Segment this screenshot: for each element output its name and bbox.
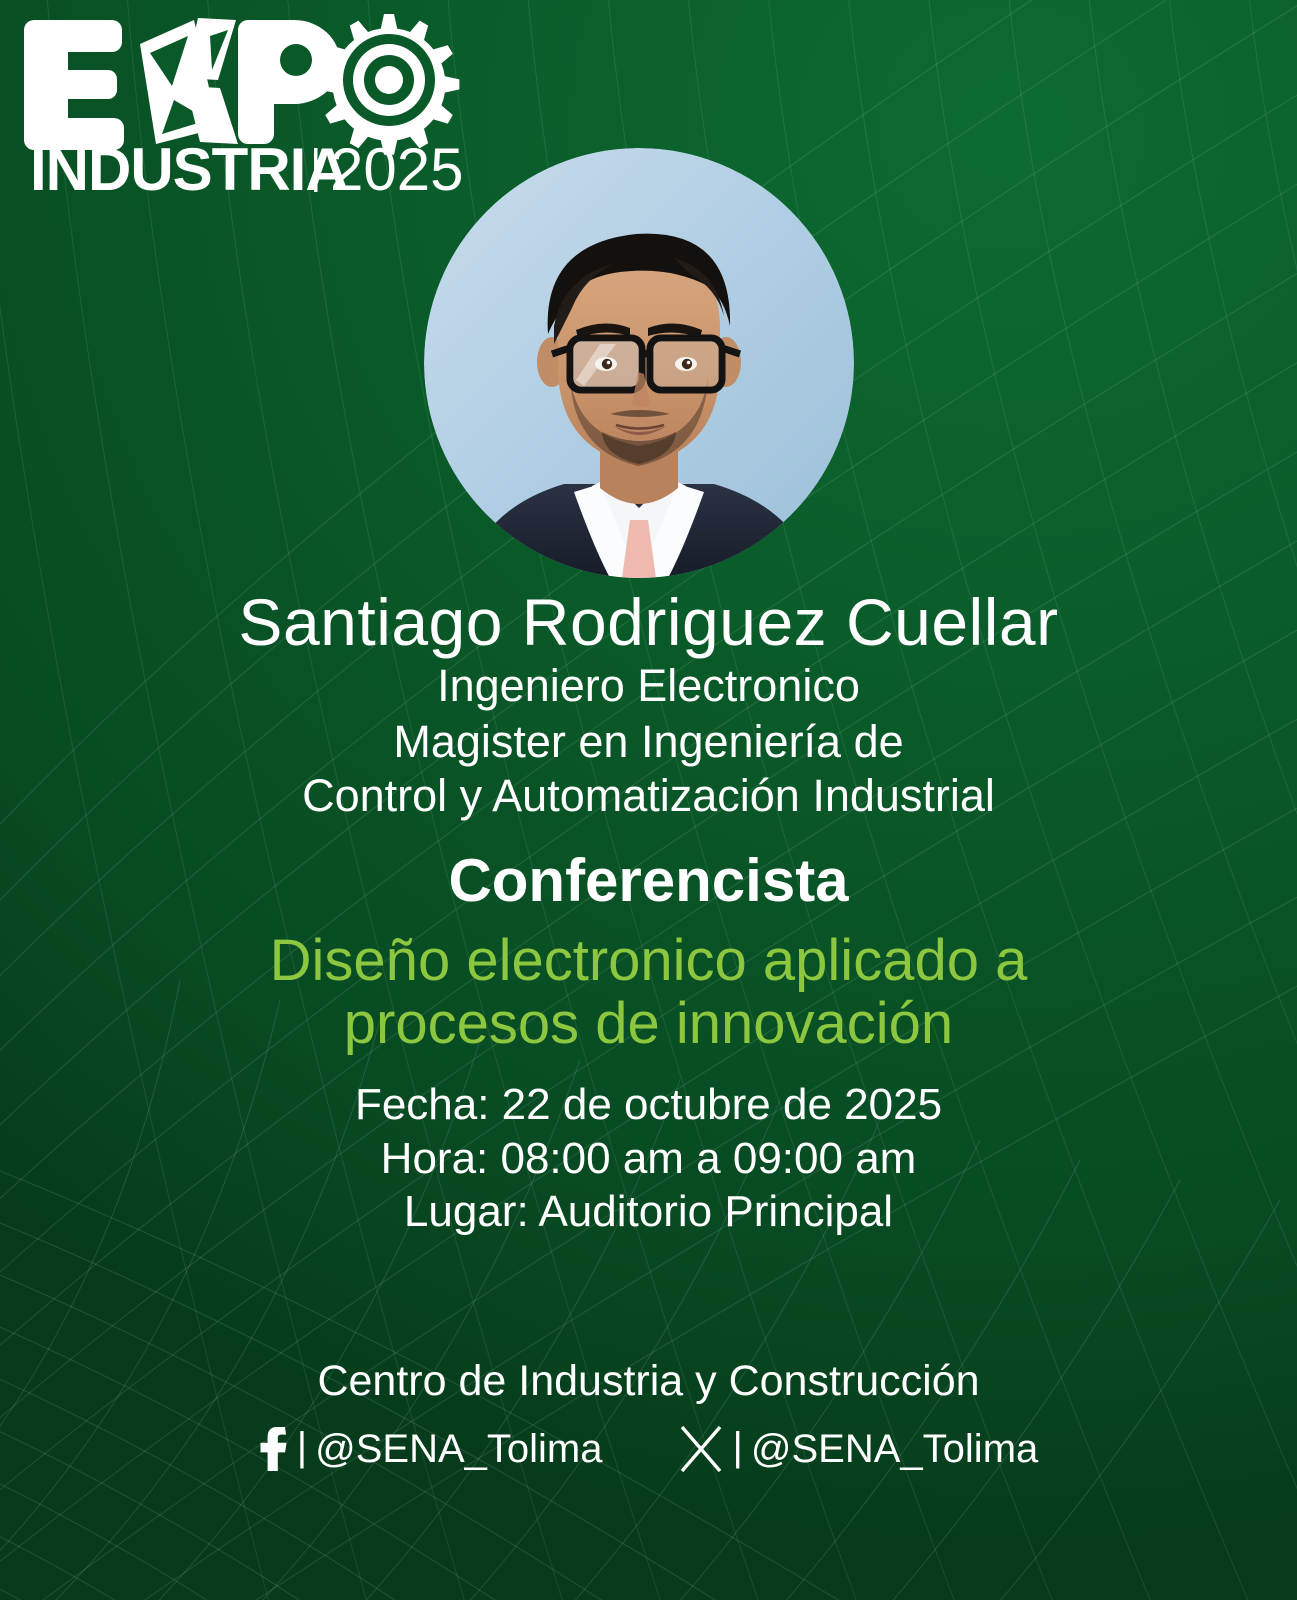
talk-title-line-1: Diseño electronico aplicado a [120,929,1177,993]
speaker-name: Santiago Rodriguez Cuellar [40,588,1257,658]
gear-icon [319,14,460,155]
event-poster: INDUSTRIA 2025 [0,0,1297,1600]
facebook-handle: @SENA_Tolima [315,1429,602,1469]
event-details: Fecha: 22 de octubre de 2025 Hora: 08:00… [40,1078,1257,1239]
speaker-credential-3: Control y Automatización Industrial [40,770,1257,822]
speaker-credential-2: Magister en Ingeniería de [40,716,1257,768]
x-twitter-icon [677,1424,725,1474]
talk-title: Diseño electronico aplicado a procesos d… [40,929,1257,1057]
speaker-info: Santiago Rodriguez Cuellar Ingeniero Ele… [0,588,1297,1239]
event-time: Hora: 08:00 am a 09:00 am [40,1132,1257,1186]
twitter-separator: | [733,1427,743,1467]
twitter-link[interactable]: | @SENA_Tolima [677,1424,1039,1474]
svg-text:INDUSTRIA: INDUSTRIA [30,136,348,203]
social-links: | @SENA_Tolima | @SENA_Tolima [0,1424,1297,1474]
speaker-role: Conferencista [40,845,1257,917]
facebook-separator: | [297,1427,307,1467]
event-venue: Lugar: Auditorio Principal [40,1185,1257,1239]
organizing-center: Centro de Industria y Construcción [0,1356,1297,1408]
facebook-icon [259,1426,289,1472]
expo-industria-logo: INDUSTRIA 2025 [22,8,462,208]
speaker-credential-1: Ingeniero Electronico [40,660,1257,712]
speaker-portrait [424,148,854,578]
svg-text:2025: 2025 [330,136,462,203]
talk-title-line-2: procesos de innovación [120,992,1177,1056]
event-date: Fecha: 22 de octubre de 2025 [40,1078,1257,1132]
twitter-handle: @SENA_Tolima [751,1429,1038,1469]
facebook-link[interactable]: | @SENA_Tolima [259,1426,603,1472]
poster-footer: Centro de Industria y Construcción | @SE… [0,1356,1297,1474]
